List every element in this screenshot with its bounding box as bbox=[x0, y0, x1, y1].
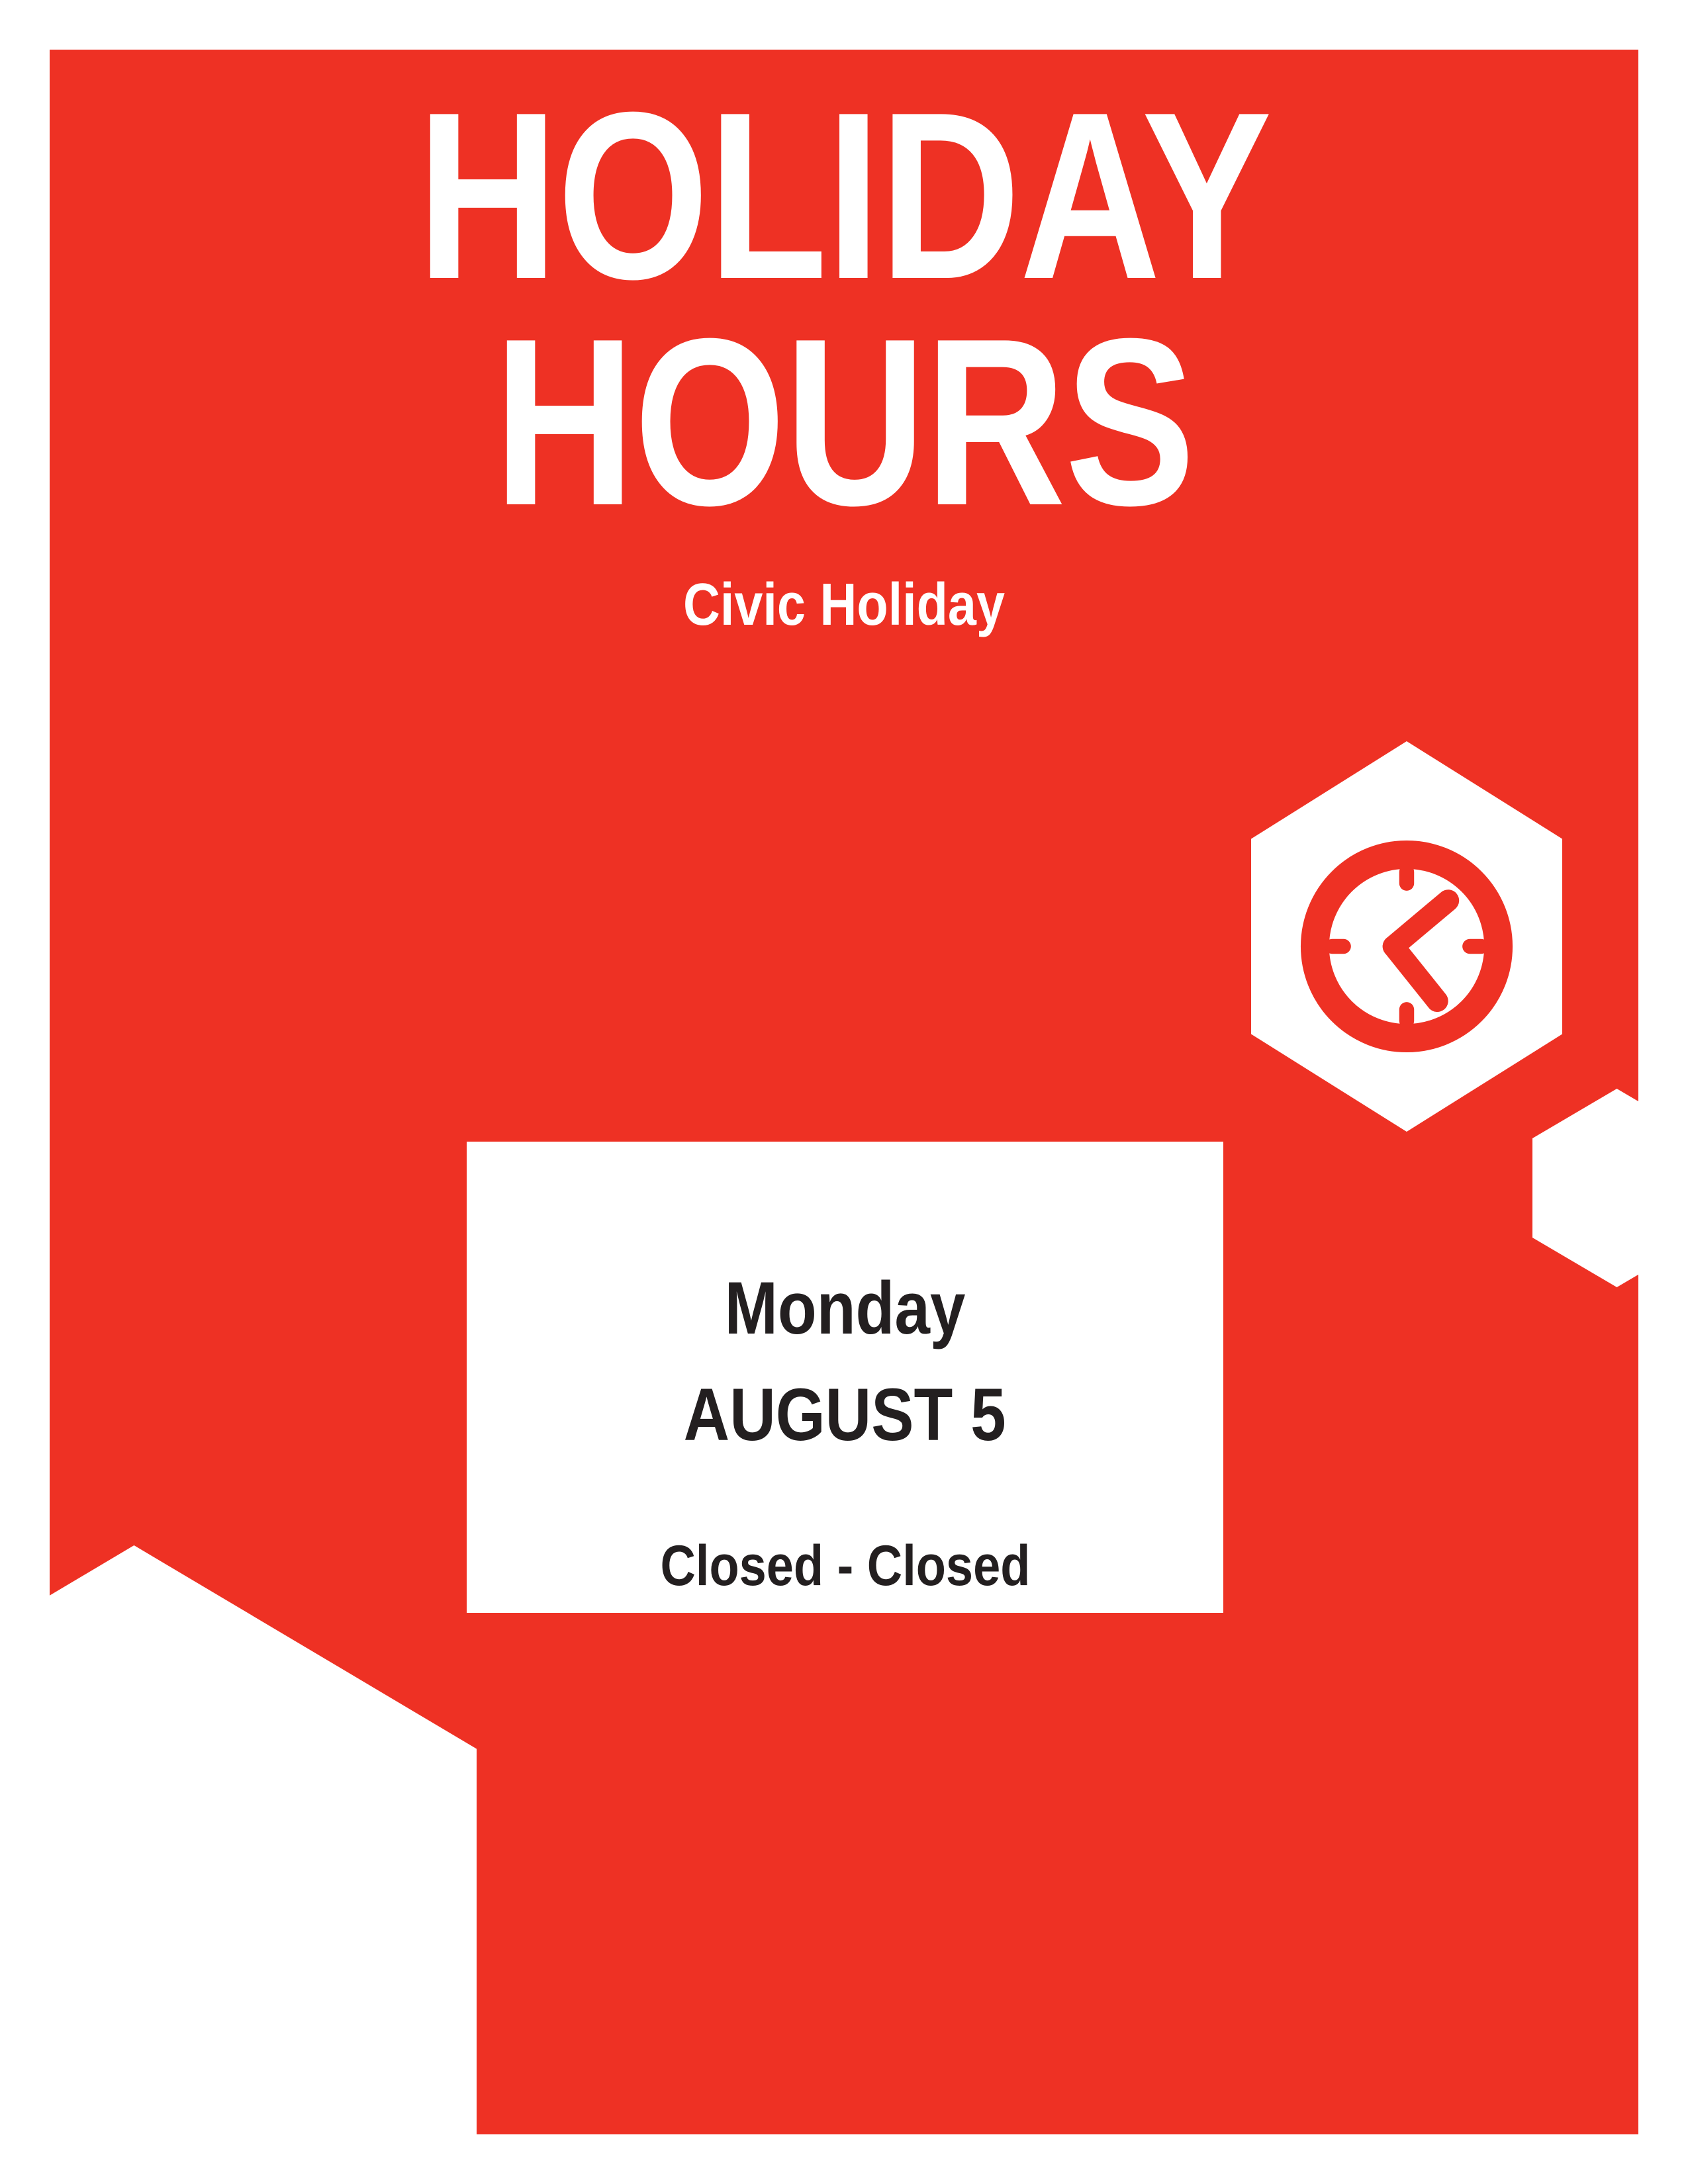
page-subtitle: Civic Holiday bbox=[161, 572, 1527, 638]
poster-header: HOLIDAY HOURS Civic Holiday bbox=[50, 50, 1638, 638]
clock-icon bbox=[1297, 837, 1516, 1056]
page-title-line-2: HOURS bbox=[193, 309, 1495, 535]
hexagon-shape-small-accent bbox=[1532, 1089, 1638, 1287]
red-background-panel: HOLIDAY HOURS Civic Holiday Monday AUGUS… bbox=[50, 50, 1638, 2134]
holiday-hours-poster: HOLIDAY HOURS Civic Holiday Monday AUGUS… bbox=[0, 0, 1688, 2184]
page-title-line-1: HOLIDAY bbox=[193, 83, 1495, 309]
schedule-hours-label: Closed - Closed bbox=[660, 1535, 1030, 1598]
schedule-day-label: Monday bbox=[725, 1267, 966, 1349]
hexagon-shape-bottom-left-accent bbox=[50, 1545, 477, 2134]
schedule-date-label: AUGUST 5 bbox=[684, 1374, 1006, 1455]
schedule-card: Monday AUGUST 5 Closed - Closed bbox=[467, 1142, 1223, 1613]
